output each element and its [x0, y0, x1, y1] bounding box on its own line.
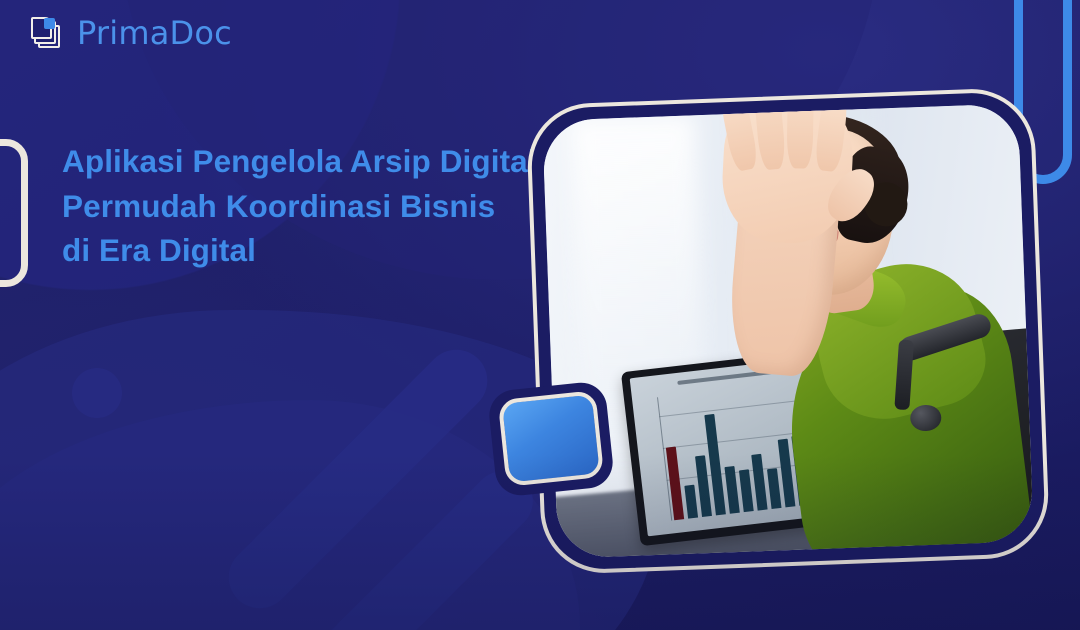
chart-bar	[767, 469, 782, 510]
brand-logo[interactable]: PrimaDoc	[30, 14, 232, 52]
chart-bar	[724, 467, 739, 515]
chart-bar	[739, 470, 754, 513]
blue-badge-decoration	[487, 380, 615, 498]
chart-bar	[751, 454, 768, 511]
chart-bar	[684, 485, 698, 519]
hero-photo	[542, 103, 1034, 558]
badge-inner-square	[498, 390, 605, 487]
decoration-circle	[72, 368, 122, 418]
stacked-documents-icon	[30, 14, 68, 52]
promo-banner: PrimaDoc Aplikasi Pengelola Arsip Digita…	[0, 0, 1080, 630]
left-rounded-frame-decoration	[0, 139, 28, 287]
hero-photo-card	[526, 87, 1051, 575]
brand-name: PrimaDoc	[77, 17, 232, 49]
